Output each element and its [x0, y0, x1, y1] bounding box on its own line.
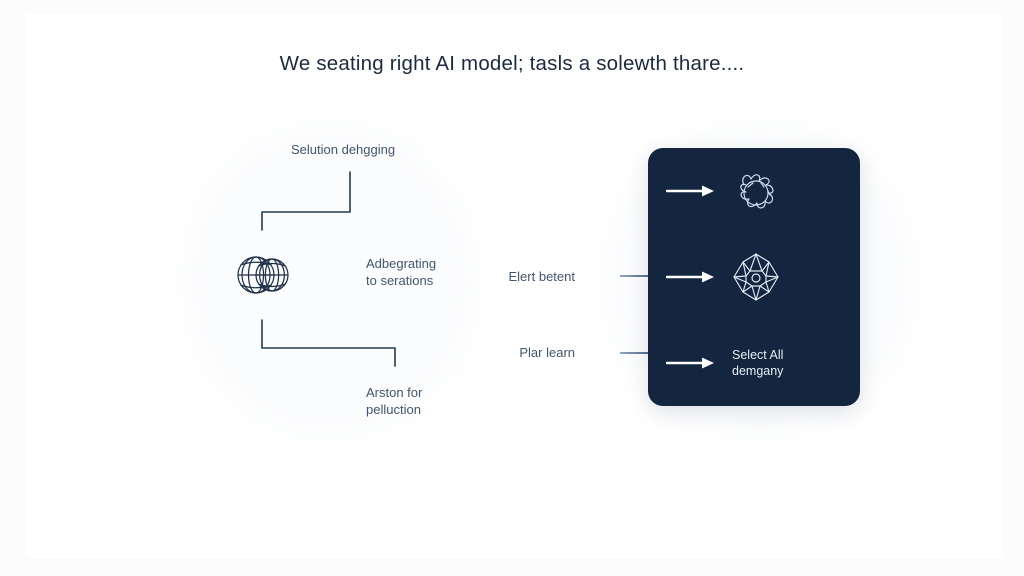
connector-branch-top — [255, 170, 360, 232]
branch-top-label: Selution dehgging — [291, 141, 471, 158]
panel-row-1 — [648, 148, 860, 234]
sketch-circle-gear-icon — [728, 163, 784, 219]
polyhedron-network-icon — [728, 249, 784, 305]
panel-row-3-text: Select All demgany — [732, 347, 783, 379]
branch-bottom-label: Arston for pelluction — [366, 384, 526, 418]
edge-wash-bottom — [0, 558, 1024, 576]
edge-wash-top — [0, 0, 1024, 14]
right-dark-panel: Select All demgany — [648, 148, 860, 406]
arrow-right-icon — [666, 270, 716, 284]
double-globe-icon — [233, 252, 295, 298]
panel-row-2-side-label: Elert betent — [455, 269, 575, 284]
arrow-right-icon — [666, 356, 716, 370]
page-title: We seating right AI model; tasls a solew… — [0, 52, 1024, 76]
edge-wash-left — [0, 0, 26, 576]
arrow-right-icon — [666, 184, 716, 198]
diagram-canvas: We seating right AI model; tasls a solew… — [0, 0, 1024, 576]
panel-row-3-inner: Select All demgany — [648, 320, 860, 406]
connector-branch-bottom — [255, 318, 405, 368]
edge-wash-right — [1002, 0, 1024, 576]
panel-row-3-side-label: Plar learn — [455, 345, 575, 360]
panel-row-2-inner — [648, 234, 860, 320]
